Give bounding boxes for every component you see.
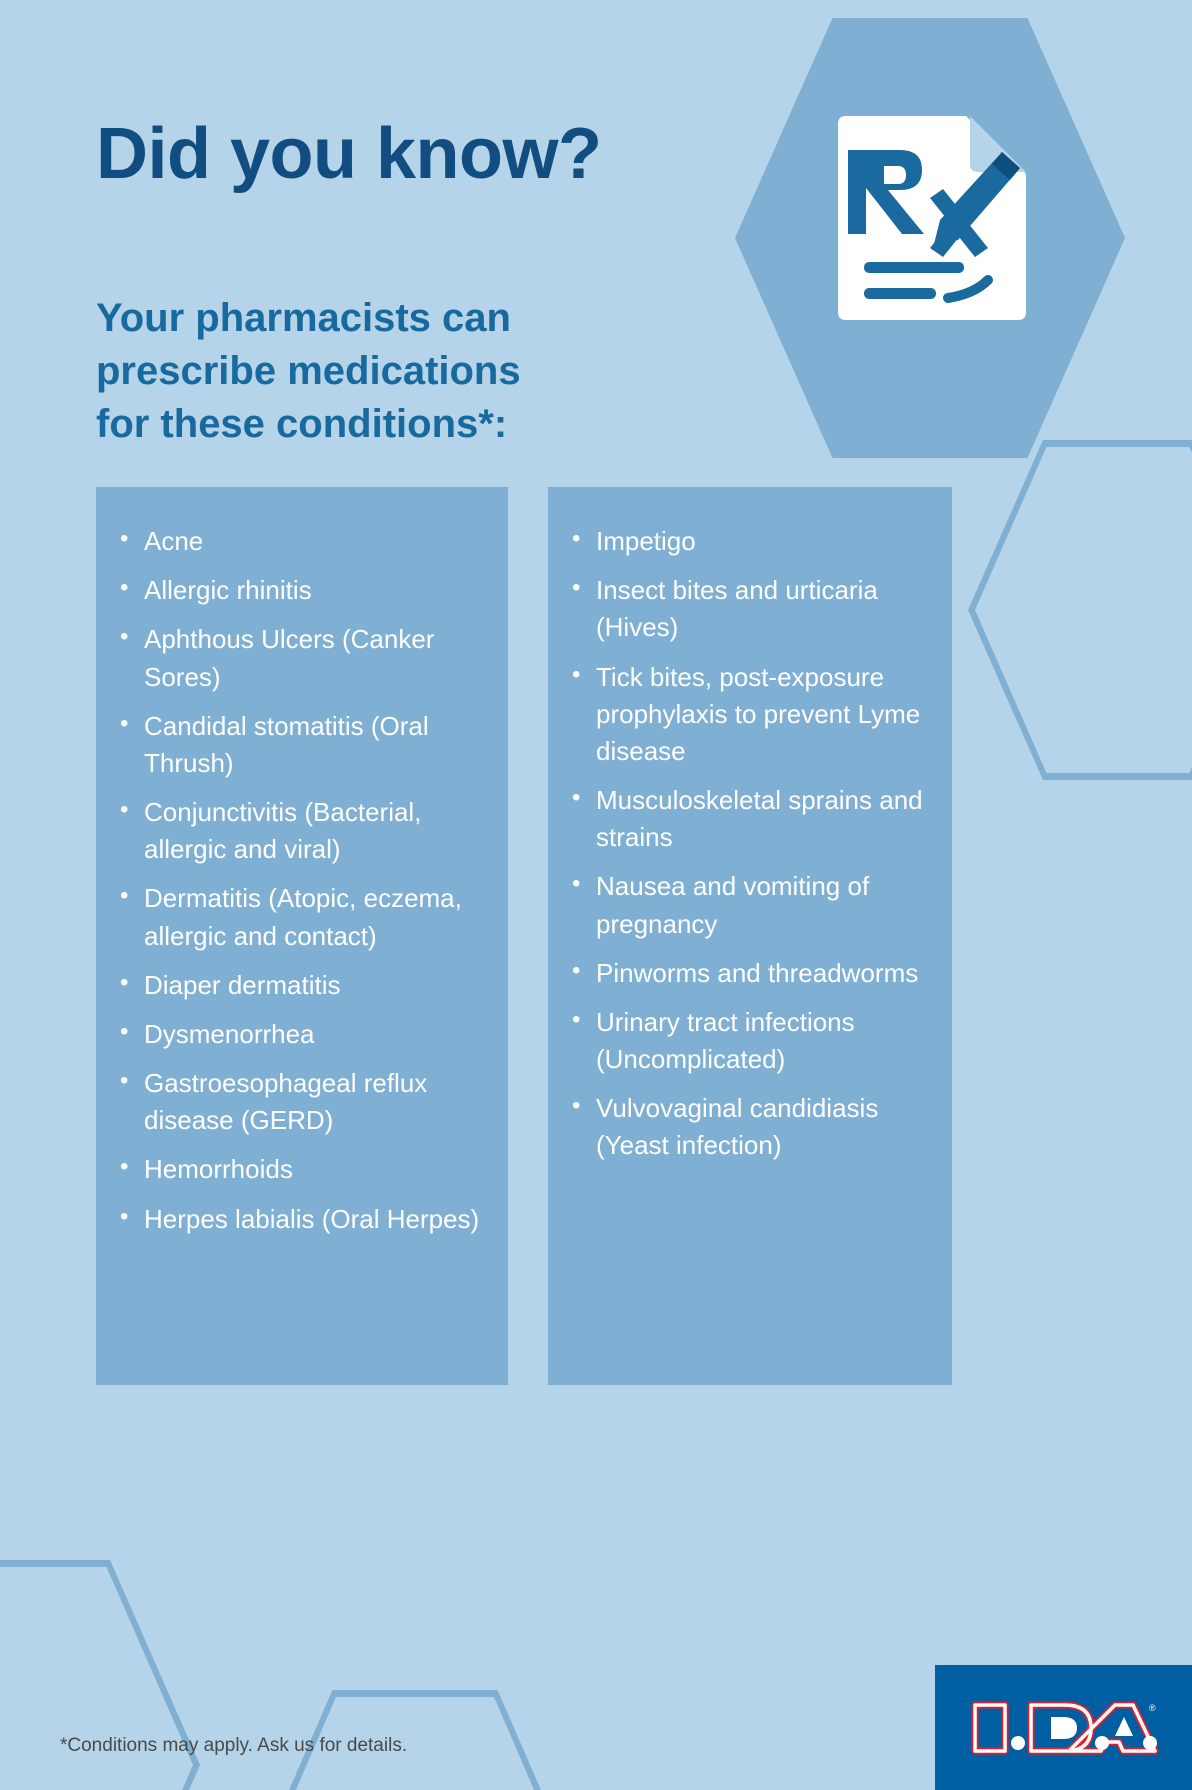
conditions-panel-right: Impetigo Insect bites and urticaria (Hiv… bbox=[548, 487, 952, 1385]
ida-logo-icon: ® bbox=[969, 1697, 1159, 1759]
list-item: Tick bites, post-exposure prophylaxis to… bbox=[570, 659, 934, 771]
list-item: Acne bbox=[118, 523, 490, 560]
list-item: Candidal stomatitis (Oral Thrush) bbox=[118, 708, 490, 782]
page-title: Did you know? bbox=[96, 117, 601, 193]
list-item: Conjunctivitis (Bacterial, allergic and … bbox=[118, 794, 490, 868]
list-item: Impetigo bbox=[570, 523, 934, 560]
list-item: Gastroesophageal reflux disease (GERD) bbox=[118, 1065, 490, 1139]
ida-logo: ® bbox=[935, 1665, 1192, 1790]
list-item: Nausea and vomiting of pregnancy bbox=[570, 868, 934, 942]
hexagon-outline-right-icon bbox=[968, 440, 1192, 780]
poster-root: Did you know? Your pharmacists can presc… bbox=[0, 0, 1192, 1790]
list-item: Musculoskeletal sprains and strains bbox=[570, 782, 934, 856]
registered-mark: ® bbox=[1149, 1703, 1156, 1713]
list-item: Herpes labialis (Oral Herpes) bbox=[118, 1201, 490, 1238]
rx-prescription-icon bbox=[838, 112, 1038, 327]
subtitle-line-1: Your pharmacists can bbox=[96, 292, 521, 345]
conditions-list-left: Acne Allergic rhinitis Aphthous Ulcers (… bbox=[96, 487, 508, 1238]
conditions-list-right: Impetigo Insect bites and urticaria (Hiv… bbox=[548, 487, 952, 1165]
list-item: Allergic rhinitis bbox=[118, 572, 490, 609]
list-item: Vulvovaginal candidiasis (Yeast infectio… bbox=[570, 1090, 934, 1164]
subtitle-line-2: prescribe medications bbox=[96, 345, 521, 398]
list-item: Hemorrhoids bbox=[118, 1151, 490, 1188]
list-item: Dermatitis (Atopic, eczema, allergic and… bbox=[118, 880, 490, 954]
list-item: Aphthous Ulcers (Canker Sores) bbox=[118, 621, 490, 695]
list-item: Pinworms and threadworms bbox=[570, 955, 934, 992]
list-item: Urinary tract infections (Uncomplicated) bbox=[570, 1004, 934, 1078]
conditions-panel-left: Acne Allergic rhinitis Aphthous Ulcers (… bbox=[96, 487, 508, 1385]
disclaimer-text: *Conditions may apply. Ask us for detail… bbox=[60, 1735, 407, 1757]
subtitle-line-3: for these conditions*: bbox=[96, 398, 521, 451]
list-item: Insect bites and urticaria (Hives) bbox=[570, 572, 934, 646]
list-item: Diaper dermatitis bbox=[118, 967, 490, 1004]
list-item: Dysmenorrhea bbox=[118, 1016, 490, 1053]
page-subtitle: Your pharmacists can prescribe medicatio… bbox=[96, 292, 521, 450]
